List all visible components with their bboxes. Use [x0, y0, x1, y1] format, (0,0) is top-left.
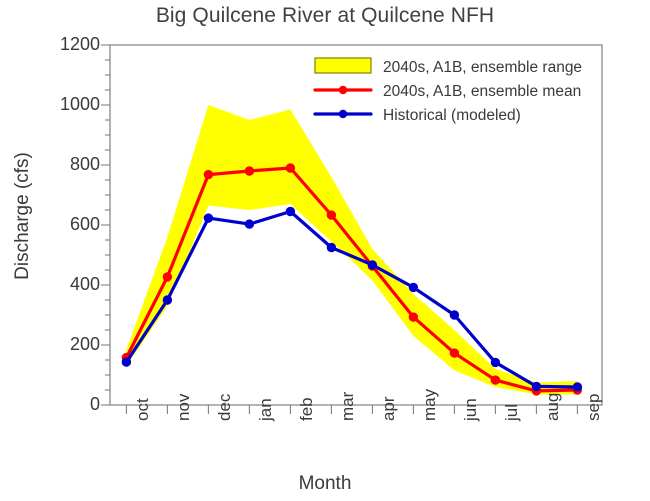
legend-item-label: 2040s, A1B, ensemble range — [383, 59, 582, 76]
data-point-marker — [204, 214, 212, 222]
x-tick-label: feb — [297, 397, 317, 421]
data-point-marker — [491, 358, 499, 366]
x-tick-label: nov — [174, 394, 194, 421]
x-tick-label: jun — [461, 398, 481, 421]
legend-swatch-marker — [339, 86, 347, 94]
y-tick-label: 1200 — [38, 34, 100, 55]
data-point-marker — [286, 164, 294, 172]
x-tick-label: jul — [502, 404, 522, 421]
x-tick-label: dec — [215, 394, 235, 421]
y-tick-label: 600 — [38, 214, 100, 235]
legend-item-label: 2040s, A1B, ensemble mean — [383, 83, 581, 100]
data-point-marker — [327, 243, 335, 251]
data-point-marker — [327, 211, 335, 219]
data-point-marker — [368, 261, 376, 269]
data-point-marker — [204, 170, 212, 178]
data-point-marker — [450, 311, 458, 319]
data-point-marker — [163, 296, 171, 304]
data-point-marker — [409, 283, 417, 291]
x-tick-label: apr — [379, 396, 399, 421]
legend-item-label: Historical (modeled) — [383, 107, 521, 124]
y-tick-label: 0 — [38, 394, 100, 415]
plot-area: 2040s, A1B, ensemble range2040s, A1B, en… — [0, 0, 650, 501]
x-tick-label: may — [420, 389, 440, 421]
data-point-marker — [286, 207, 294, 215]
legend-swatch-range — [315, 58, 371, 73]
y-tick-label: 1000 — [38, 94, 100, 115]
x-tick-label: aug — [543, 393, 563, 421]
data-point-marker — [491, 376, 499, 384]
data-point-marker — [245, 167, 253, 175]
legend-swatch-marker — [339, 110, 347, 118]
data-point-marker — [409, 313, 417, 321]
chart-figure: Big Quilcene River at Quilcene NFH Disch… — [0, 0, 650, 501]
y-tick-label: 800 — [38, 154, 100, 175]
data-point-marker — [245, 220, 253, 228]
y-tick-label: 200 — [38, 334, 100, 355]
data-point-marker — [450, 349, 458, 357]
data-point-marker — [532, 382, 540, 390]
x-tick-label: oct — [133, 398, 153, 421]
data-point-marker — [163, 273, 171, 281]
x-tick-label: sep — [584, 394, 604, 421]
data-point-marker — [573, 383, 581, 391]
chart-legend: 2040s, A1B, ensemble range2040s, A1B, en… — [315, 58, 582, 124]
x-tick-label: jan — [256, 398, 276, 421]
y-tick-label: 400 — [38, 274, 100, 295]
x-tick-label: mar — [338, 392, 358, 421]
data-point-marker — [122, 358, 130, 366]
